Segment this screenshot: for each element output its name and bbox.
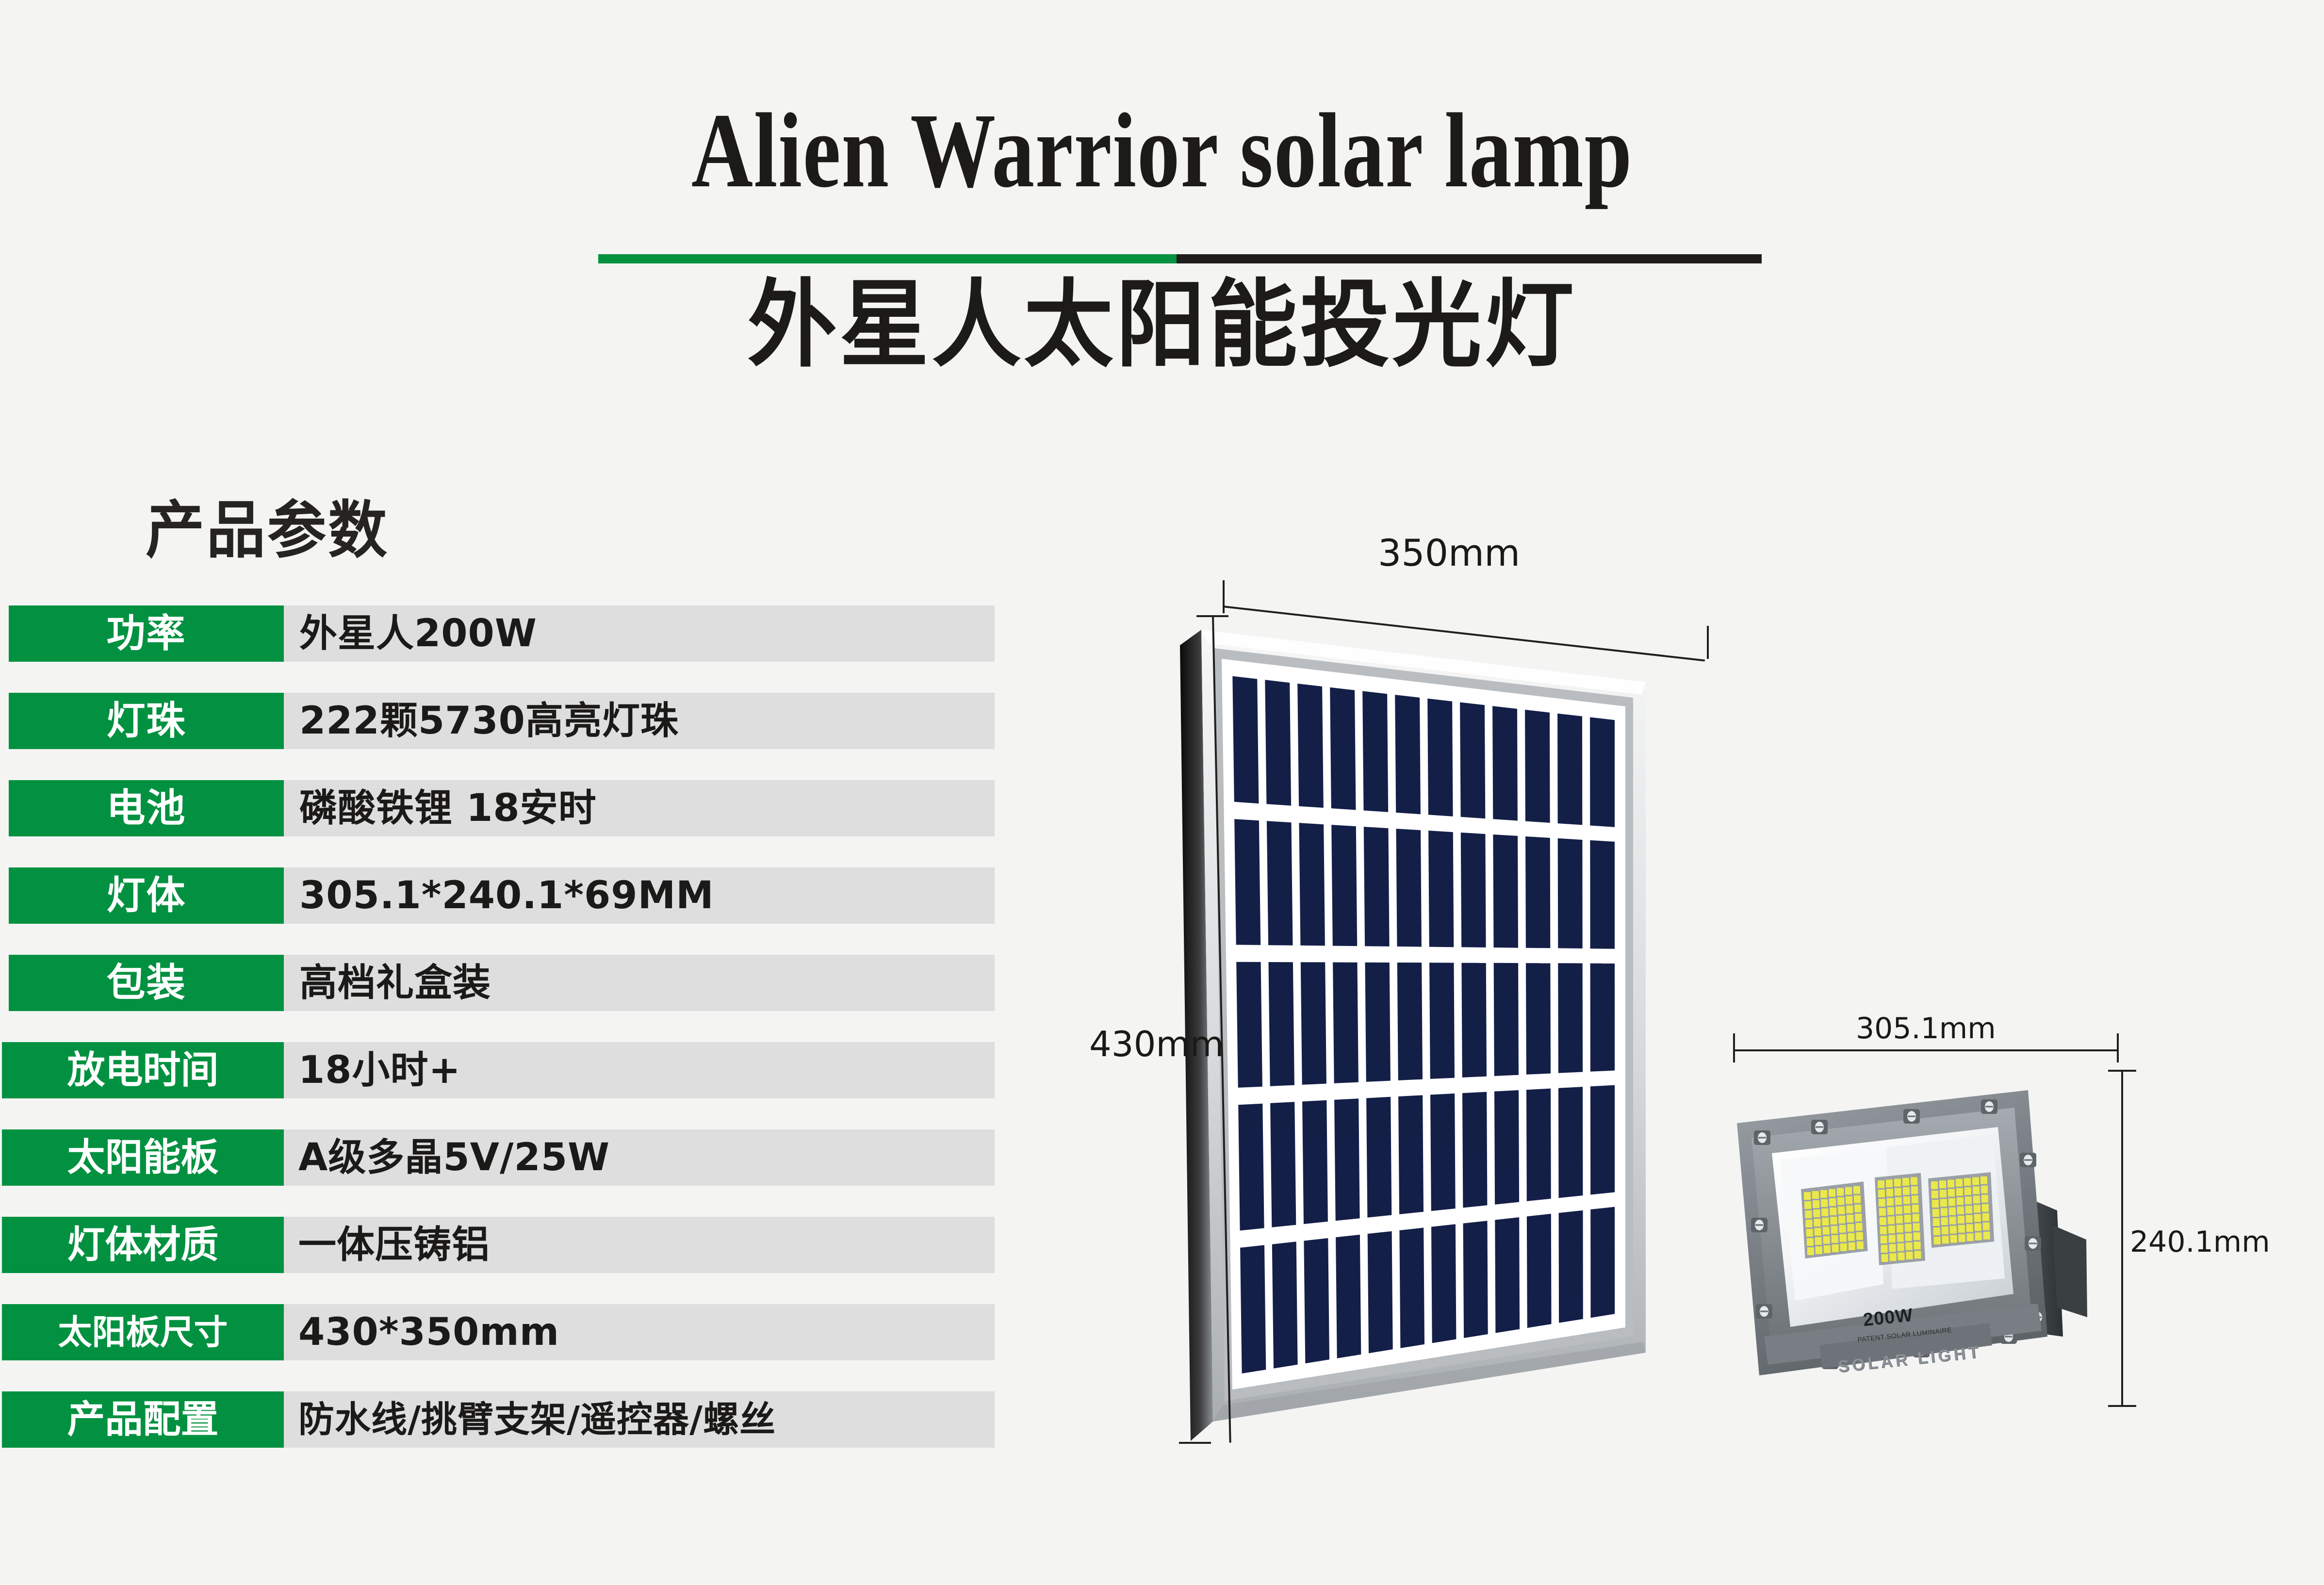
spec-value: 磷酸铁锂 18安时 (284, 780, 995, 836)
table-row: 包装 高档礼盒装 (0, 955, 995, 1011)
spec-value: 外星人200W (284, 605, 995, 662)
spec-table: 功率 外星人200W 灯珠 222颗5730高亮灯珠 电池 磷酸铁锂 18安时 … (0, 605, 995, 1479)
divider-black-segment (1177, 254, 1762, 263)
table-row: 灯体 305.1*240.1*69MM (0, 867, 995, 924)
panel-width-tick-right (1707, 626, 1709, 659)
floodlight-width-label: 305.1mm (1856, 1012, 1996, 1046)
table-row: 太阳能板 A级多晶5V/25W (0, 1129, 995, 1186)
floodlight-height-tick-bottom (2108, 1405, 2136, 1407)
spec-value: 一体压铸铝 (284, 1217, 995, 1273)
floodlight-illustration: 200W PATENT SOLAR LUMINAIRE SOLAR LIGHT (1718, 1065, 2101, 1405)
floodlight-height-label: 240.1mm (2130, 1225, 2270, 1259)
spec-value: 防水线/挑臂支架/遥控器/螺丝 (284, 1391, 995, 1448)
spec-value: 305.1*240.1*69MM (284, 867, 995, 924)
panel-height-tick-bottom (1179, 1442, 1211, 1444)
spec-value: 222颗5730高亮灯珠 (284, 693, 995, 749)
spec-label: 包装 (9, 955, 284, 1011)
page-title-chinese: 外星人太阳能投光灯 (70, 274, 2255, 377)
floodlight-height-dimension-line (2121, 1070, 2123, 1407)
table-row: 放电时间 18小时+ (0, 1042, 995, 1098)
title-divider-bar (598, 254, 1762, 263)
spec-label: 太阳板尺寸 (2, 1304, 284, 1360)
spec-label: 功率 (9, 605, 284, 662)
spec-value: 430*350mm (284, 1304, 995, 1360)
panel-width-tick-left (1223, 580, 1225, 613)
panel-height-label: 430mm (1089, 1024, 1224, 1064)
spec-label: 灯珠 (9, 693, 284, 749)
table-row: 功率 外星人200W (0, 605, 995, 662)
spec-label: 产品配置 (2, 1391, 284, 1448)
table-row: 太阳板尺寸 430*350mm (0, 1304, 995, 1360)
floodlight-height-tick-top (2108, 1070, 2136, 1072)
panel-height-tick-top (1196, 615, 1228, 617)
floodlight-width-tick-left (1733, 1033, 1735, 1062)
page-title-english: Alien Warrior solar lamp (232, 97, 2092, 204)
floodlight-width-tick-right (2117, 1033, 2119, 1062)
table-row: 灯体材质 一体压铸铝 (0, 1217, 995, 1273)
panel-width-label: 350mm (1378, 531, 1520, 574)
divider-green-segment (598, 254, 1177, 263)
spec-label: 太阳能板 (2, 1129, 284, 1186)
spec-value: A级多晶5V/25W (284, 1129, 995, 1186)
spec-label: 电池 (9, 780, 284, 836)
spec-label: 放电时间 (2, 1042, 284, 1098)
spec-value: 高档礼盒装 (284, 955, 995, 1011)
table-row: 产品配置 防水线/挑臂支架/遥控器/螺丝 (0, 1391, 995, 1448)
product-spec-page: Alien Warrior solar lamp 外星人太阳能投光灯 产品参数 … (0, 0, 2324, 1585)
solar-panel-illustration (1155, 568, 1698, 1499)
spec-section-heading: 产品参数 (146, 500, 389, 562)
table-row: 电池 磷酸铁锂 18安时 (0, 780, 995, 836)
table-row: 灯珠 222颗5730高亮灯珠 (0, 693, 995, 749)
spec-value: 18小时+ (284, 1042, 995, 1098)
spec-label: 灯体 (9, 867, 284, 924)
spec-label: 灯体材质 (2, 1217, 284, 1273)
floodlight-width-dimension-line (1733, 1049, 2119, 1051)
